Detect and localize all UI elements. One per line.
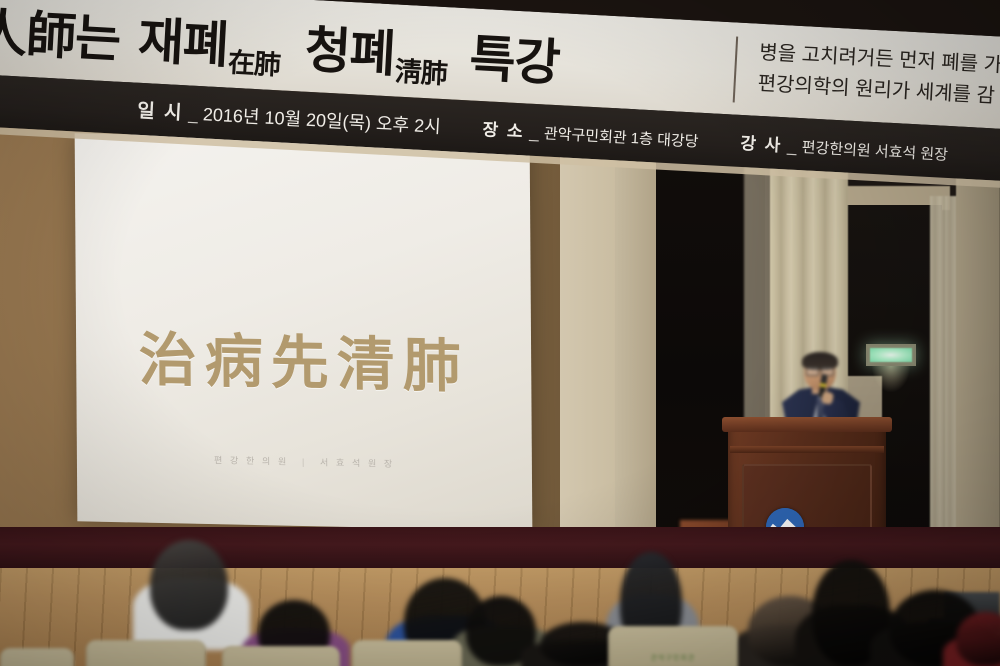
man-white-shirt-head — [150, 540, 228, 630]
banner-title-part-0: 人師 — [0, 0, 77, 69]
meta-sep-lecturer: _ — [787, 136, 798, 156]
banner-title-part-4: 청폐 — [303, 10, 397, 87]
seat-back — [86, 640, 206, 666]
meta-label-datetime: 일 시 — [137, 95, 185, 124]
slide-credit-speaker: 서 효 석 원 장 — [320, 457, 395, 469]
slide-credit: 편 강 한 의 원 | 서 효 석 원 장 — [214, 453, 395, 470]
seat-back — [222, 646, 340, 666]
eyeglasses-icon — [806, 367, 834, 374]
seat-back — [0, 648, 74, 666]
banner-meta-datetime: 일 시 _ 2016년 10월 20일(목) 오후 2시 — [137, 95, 442, 138]
slide-credit-clinic: 편 강 한 의 원 — [214, 455, 289, 467]
slide-credit-separator: | — [302, 457, 307, 467]
projection-screen: 治病先清肺 편 강 한 의 원 | 서 효 석 원 장 — [75, 133, 533, 531]
beige-wall-panel — [560, 128, 656, 548]
podium-trim — [730, 446, 884, 453]
meta-label-lecturer: 강 사 — [740, 128, 783, 155]
banner-meta-venue: 장 소 _ 관악구민회관 1층 대강당 — [482, 115, 699, 151]
banner-title-part-5: 淸肺 — [394, 49, 448, 97]
wall-pillar — [956, 150, 1000, 550]
banner-title-part-2: 재폐 — [136, 1, 230, 78]
banner-title-part-6: 특강 — [468, 18, 562, 95]
meta-sep-datetime: _ — [188, 104, 199, 124]
exit-sign-glow — [870, 348, 912, 362]
banner-title-part-1: 는 — [73, 0, 122, 72]
banner-title-part-3: 在肺 — [227, 41, 281, 89]
slide-headline: 治病先清肺 — [138, 313, 469, 404]
lecture-hall-photo: 治病先清肺 편 강 한 의 원 | 서 효 석 원 장 — [0, 0, 1000, 666]
seat-back: 관악구민회관 — [608, 626, 738, 666]
meta-sep-venue: _ — [529, 122, 540, 142]
meta-value-lecturer: 편강한의원 서효석 원장 — [801, 136, 948, 165]
meta-value-venue: 관악구민회관 1층 대강당 — [543, 122, 699, 151]
person-far-right-head — [956, 612, 1000, 666]
seat-back — [352, 640, 462, 666]
exit-sign-light-spill — [872, 366, 910, 392]
seat-label: 관악구민회관 — [651, 653, 696, 663]
meta-label-venue: 장 소 — [482, 115, 525, 142]
emergency-exit-sign — [866, 344, 916, 366]
banner-meta-lecturer: 강 사 _ 편강한의원 서효석 원장 — [740, 128, 949, 164]
podium-top-surface — [722, 417, 892, 432]
meta-value-datetime: 2016년 10월 20일(목) 오후 2시 — [202, 100, 441, 139]
